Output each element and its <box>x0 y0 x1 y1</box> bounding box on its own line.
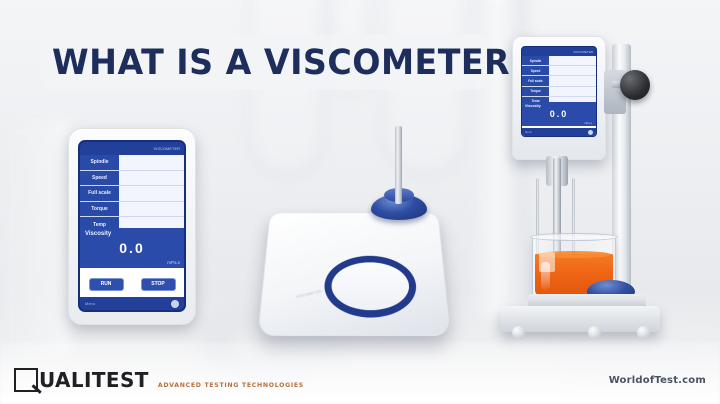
parameter-label: Torque <box>80 202 119 217</box>
cone-plate-measuring-system: VISCOMETER <box>258 196 448 344</box>
parameter-value <box>119 155 184 170</box>
parameter-row[interactable]: Torque <box>80 202 184 218</box>
viscosity-unit: mPa.s <box>167 260 180 265</box>
site-watermark: WorldofTest.com <box>609 375 706 386</box>
viscosity-value: 0.0 <box>522 109 596 119</box>
handheld-screen[interactable]: VISCOMETER Spindle Speed Full scale Torq… <box>78 140 186 312</box>
base-foot <box>588 326 601 339</box>
viscometer-head: VISCOMETER Spindle Speed Full scale <box>512 36 606 160</box>
parameter-label: Spindle <box>80 155 119 170</box>
parameter-row[interactable]: Full scale <box>522 76 596 86</box>
stop-button[interactable]: STOP <box>141 278 176 291</box>
brand-logo: UALITEST ADVANCED TESTING TECHNOLOGIES <box>14 368 304 392</box>
parameter-value <box>549 87 596 96</box>
parameter-row[interactable]: Spindle <box>522 56 596 66</box>
parameter-label: Speed <box>80 171 119 186</box>
beaker-rim <box>530 233 618 241</box>
parameter-row[interactable]: Full scale <box>80 186 184 202</box>
qualitest-logo-mark: UALITEST <box>14 368 149 392</box>
parameter-row[interactable]: Speed <box>80 171 184 187</box>
beaker-graduation-label <box>539 252 555 272</box>
parameter-label: Full scale <box>522 76 549 85</box>
screen-header: VISCOMETER <box>522 47 596 56</box>
parameter-label: Speed <box>522 66 549 75</box>
parameter-value <box>549 66 596 75</box>
gear-icon[interactable] <box>588 130 593 135</box>
menu-button[interactable]: Menu <box>525 130 532 134</box>
viscosity-readout: Viscosity 0.0 mPa.s <box>522 102 596 126</box>
viscosity-readout: Viscosity 0.0 mPa.s <box>80 228 184 268</box>
page-title: WHAT IS A VISCOMETER? <box>52 44 461 82</box>
screen-header-label: VISCOMETER <box>154 146 180 151</box>
base-foot <box>637 326 650 339</box>
cone-plate-base: VISCOMETER <box>257 212 450 336</box>
handheld-viscometer: VISCOMETER Spindle Speed Full scale Torq… <box>68 128 196 325</box>
slide-canvas: WHAT IS A VISCOMETER? VISCOMETER Spindle… <box>0 0 720 404</box>
viscosity-label: Viscosity <box>85 231 111 237</box>
brand-tagline: ADVANCED TESTING TECHNOLOGIES <box>158 382 304 392</box>
parameter-row[interactable]: Speed <box>522 66 596 76</box>
screen-button-bar: RUN STOP <box>80 268 184 300</box>
parameter-value <box>549 56 596 65</box>
screen-header-label: VISCOMETER <box>573 50 593 54</box>
parameter-value <box>119 186 184 201</box>
parameter-row[interactable]: Torque <box>522 87 596 97</box>
parameter-label: Torque <box>522 87 549 96</box>
base-foot <box>512 326 525 339</box>
rotational-stand-viscometer: VISCOMETER Spindle Speed Full scale <box>492 18 672 348</box>
parameter-value <box>119 202 184 217</box>
screen-header: VISCOMETER <box>80 142 184 155</box>
parameter-row[interactable]: Spindle <box>80 155 184 171</box>
parameter-list: Spindle Speed Full scale Torque Temp <box>80 155 184 228</box>
parameter-value <box>119 171 184 186</box>
stand-screen[interactable]: VISCOMETER Spindle Speed Full scale <box>521 46 597 137</box>
parameter-list: Spindle Speed Full scale Torque <box>522 56 596 102</box>
gear-icon[interactable] <box>171 300 179 308</box>
parameter-label: Spindle <box>522 56 549 65</box>
spindle-rod <box>395 126 402 204</box>
screen-footer: Menu <box>522 128 596 136</box>
viscosity-unit: mPa.s <box>584 121 592 125</box>
q-glyph-icon <box>14 368 38 392</box>
parameter-value <box>549 76 596 85</box>
background-column <box>0 120 70 360</box>
instrument-base <box>500 306 660 332</box>
viscosity-value: 0.0 <box>80 240 184 256</box>
viscosity-label: Viscosity <box>525 104 541 108</box>
menu-button[interactable]: Menu <box>85 301 95 306</box>
screen-footer: Menu <box>80 297 184 310</box>
brand-name: UALITEST <box>39 370 149 390</box>
parameter-label: Full scale <box>80 186 119 201</box>
run-button[interactable]: RUN <box>89 278 124 291</box>
adjustment-knob[interactable] <box>620 70 650 100</box>
